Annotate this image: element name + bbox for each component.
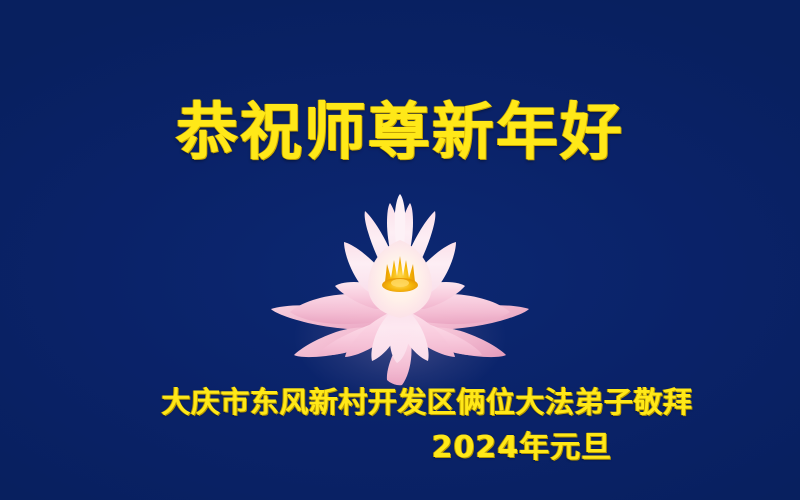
dateline: 2024年元旦 bbox=[0, 430, 800, 466]
lotus-flower-image bbox=[268, 190, 532, 386]
subtitle-signature: 大庆市东风新村开发区俩位大法弟子敬拜 bbox=[0, 385, 800, 419]
page-title: 恭祝师尊新年好 bbox=[0, 97, 800, 167]
lotus-svg bbox=[268, 190, 532, 386]
greeting-card: 恭祝师尊新年好 bbox=[0, 0, 800, 500]
